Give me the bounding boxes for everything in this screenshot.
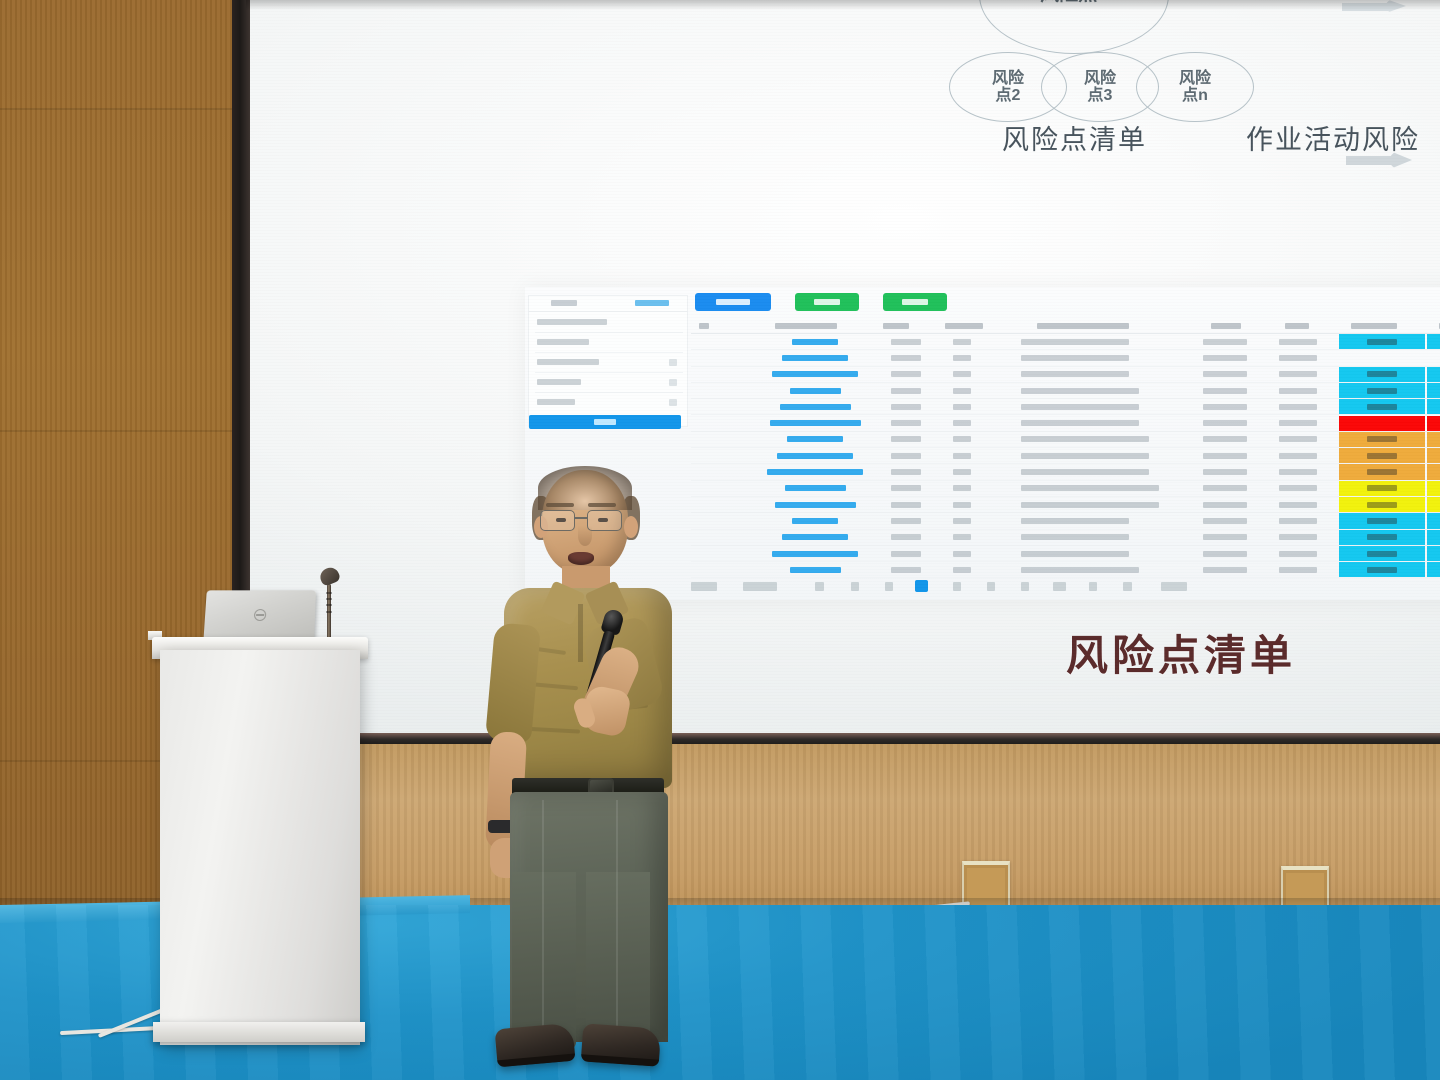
- filter-field-risk-level[interactable]: [535, 394, 683, 413]
- area-cell: [1203, 388, 1247, 394]
- pagination-page-6[interactable]: [1021, 582, 1029, 591]
- mouth: [568, 552, 594, 565]
- method-cell: [953, 371, 971, 377]
- risk-type-cell: [891, 502, 921, 508]
- method-cell: [953, 404, 971, 410]
- pagination-prev[interactable]: [815, 582, 824, 591]
- risk-type-cell: [891, 567, 921, 573]
- table-row[interactable]: [691, 367, 1440, 383]
- accident-type-cell: [1021, 469, 1149, 475]
- risk-point-name-link[interactable]: [772, 551, 858, 557]
- department-cell: [1279, 371, 1317, 377]
- filter-reset-link[interactable]: [635, 300, 669, 306]
- accident-type-cell: [1021, 518, 1129, 524]
- area-cell: [1203, 436, 1247, 442]
- pagination-page-current[interactable]: [915, 580, 928, 592]
- risk-type-cell: [891, 371, 921, 377]
- shirt-placket: [578, 604, 583, 662]
- filter-field-type[interactable]: [535, 334, 683, 353]
- current-risk-level-cell: [1427, 497, 1440, 512]
- pagination-jump[interactable]: [1161, 582, 1187, 591]
- table-row[interactable]: [691, 399, 1440, 415]
- initial-risk-level-cell: [1339, 530, 1425, 545]
- area-cell: [1203, 502, 1247, 508]
- pagination-page-4[interactable]: [953, 582, 961, 591]
- venn-circle-n-label: 风险 点n: [1179, 70, 1211, 105]
- table-pagination: [691, 579, 1391, 595]
- trouser-crease-right: [616, 800, 618, 1040]
- method-cell: [953, 420, 971, 426]
- department-cell: [1279, 518, 1317, 524]
- venn-circle-3-line2: 点3: [1088, 87, 1113, 104]
- area-cell: [1203, 453, 1247, 459]
- venn-circle-3-label: 风险 点3: [1084, 70, 1116, 105]
- risk-point-name-link[interactable]: [782, 355, 848, 361]
- microphone-head: [318, 565, 342, 587]
- department-cell: [1279, 502, 1317, 508]
- venn-circle-1-label: 风险点1: [1040, 0, 1108, 5]
- initial-risk-level-cell: [1339, 334, 1425, 349]
- accident-type-cell: [1021, 534, 1129, 540]
- method-cell: [953, 355, 971, 361]
- risk-type-cell: [891, 436, 921, 442]
- table-row[interactable]: [691, 448, 1440, 464]
- current-risk-level-cell: [1427, 562, 1440, 577]
- current-risk-level-cell: [1427, 399, 1440, 414]
- department-cell: [1279, 469, 1317, 475]
- left-leg: [512, 872, 576, 1050]
- venn-circle-n: 风险 点n: [1136, 52, 1254, 122]
- area-cell: [1203, 420, 1247, 426]
- projection-screen: 风险点1 风险 点2 风险 点3 风险 点n 风险点清: [246, 0, 1440, 735]
- initial-risk-level-cell: [1339, 432, 1425, 447]
- current-risk-level-cell: [1427, 367, 1440, 382]
- method-cell: [953, 388, 971, 394]
- method-cell: [953, 518, 971, 524]
- filter-panel: [528, 295, 688, 427]
- risk-type-cell: [891, 453, 921, 459]
- department-cell: [1279, 355, 1317, 361]
- filter-field-department[interactable]: [535, 374, 683, 393]
- current-risk-level-cell: [1427, 464, 1440, 479]
- current-risk-level-cell: [1427, 546, 1440, 561]
- left-shoe: [494, 1023, 575, 1068]
- pagination-ellipsis: [1053, 582, 1066, 591]
- accident-type-cell: [1021, 567, 1139, 573]
- nose: [578, 526, 592, 546]
- initial-risk-level-cell: [1339, 513, 1425, 528]
- venn-circle-1: 风险点1: [979, 0, 1169, 54]
- venn-circle-2-line1: 风险: [992, 70, 1024, 87]
- risk-type-cell: [891, 551, 921, 557]
- risk-type-cell: [891, 534, 921, 540]
- method-cell: [953, 485, 971, 491]
- eyebrow-right: [588, 503, 616, 507]
- table-row[interactable]: [691, 432, 1440, 448]
- risk-type-cell: [891, 518, 921, 524]
- area-cell: [1203, 404, 1247, 410]
- venn-circle-n-line1: 风险: [1179, 70, 1211, 87]
- risk-type-cell: [891, 339, 921, 345]
- accident-type-cell: [1021, 404, 1139, 410]
- accident-type-cell: [1021, 485, 1159, 491]
- initial-risk-level-cell: [1339, 383, 1425, 398]
- area-cell: [1203, 371, 1247, 377]
- pagination-page-1[interactable]: [851, 582, 859, 591]
- table-row[interactable]: [691, 383, 1440, 399]
- area-cell: [1203, 518, 1247, 524]
- current-risk-level-cell: [1427, 334, 1440, 349]
- risk-point-name-link[interactable]: [775, 502, 856, 508]
- department-cell: [1279, 453, 1317, 459]
- risk-point-name-link[interactable]: [772, 371, 858, 377]
- pagination-page-5[interactable]: [987, 582, 995, 591]
- risk-point-name-link[interactable]: [767, 469, 863, 475]
- current-risk-level-cell: [1427, 383, 1440, 398]
- accident-type-cell: [1021, 436, 1149, 442]
- export-button[interactable]: [883, 293, 947, 311]
- current-risk-level-cell: [1427, 481, 1440, 496]
- arrow-right-icon-top: [1342, 0, 1412, 12]
- risk-type-cell: [891, 485, 921, 491]
- risk-type-cell: [891, 404, 921, 410]
- accident-type-cell: [1021, 453, 1149, 459]
- conference-stage-photo: 风险点1 风险 点2 风险 点3 风险 点n 风险点清: [0, 0, 1440, 1080]
- risk-type-cell: [891, 355, 921, 361]
- laptop-lid: [203, 590, 316, 644]
- add-button[interactable]: [695, 293, 771, 311]
- department-cell: [1279, 388, 1317, 394]
- accident-type-cell: [1021, 355, 1129, 361]
- initial-risk-level-cell: [1339, 367, 1425, 382]
- department-cell: [1279, 339, 1317, 345]
- department-cell: [1279, 534, 1317, 540]
- gooseneck-microphone: [316, 566, 342, 646]
- lectern-base: [153, 1022, 365, 1042]
- filter-header-label: [551, 300, 577, 306]
- risk-point-name-link[interactable]: [780, 404, 851, 410]
- current-risk-level-cell: [1427, 432, 1440, 447]
- label-risk-point-list: 风险点清单: [1002, 118, 1147, 157]
- venn-circle-2-label: 风险 点2: [992, 70, 1024, 105]
- venn-diagram: 风险点1 风险 点2 风险 点3 风险 点n: [246, 0, 1440, 190]
- initial-risk-level-cell: [1339, 399, 1425, 414]
- method-cell: [953, 436, 971, 442]
- method-cell: [953, 469, 971, 475]
- department-cell: [1279, 551, 1317, 557]
- table-toolbar: [695, 293, 1025, 313]
- filter-search-button[interactable]: [529, 415, 681, 429]
- current-risk-level-cell: [1427, 513, 1440, 528]
- current-risk-level-cell: [1427, 416, 1440, 431]
- right-shoe: [581, 1023, 661, 1066]
- risk-point-name-link[interactable]: [777, 453, 853, 459]
- initial-risk-level-cell: [1339, 448, 1425, 463]
- department-cell: [1279, 485, 1317, 491]
- area-cell: [1203, 551, 1247, 557]
- risk-point-table: [691, 317, 1440, 579]
- accident-type-cell: [1021, 420, 1139, 426]
- accident-type-cell: [1021, 388, 1139, 394]
- pagination-page-last[interactable]: [1089, 582, 1097, 591]
- department-cell: [1279, 420, 1317, 426]
- department-cell: [1279, 436, 1317, 442]
- current-risk-level-cell: [1427, 448, 1440, 463]
- table-header-row: [691, 317, 1440, 334]
- risk-type-cell: [891, 469, 921, 475]
- risk-point-name-link[interactable]: [792, 339, 838, 345]
- risk-point-name-link[interactable]: [770, 420, 861, 426]
- table-row[interactable]: [691, 546, 1440, 562]
- risk-point-name-link[interactable]: [790, 388, 841, 394]
- initial-risk-level-cell: [1339, 497, 1425, 512]
- venn-circle-2-line2: 点2: [996, 87, 1021, 104]
- risk-type-cell: [891, 388, 921, 394]
- table-row[interactable]: [691, 481, 1440, 497]
- accident-type-cell: [1021, 339, 1129, 345]
- current-risk-level-cell: [1427, 530, 1440, 545]
- table-row[interactable]: [691, 562, 1440, 578]
- lectern: BOHAI: [160, 650, 360, 1045]
- table-row[interactable]: [691, 464, 1440, 480]
- method-cell: [953, 502, 971, 508]
- risk-point-name-link[interactable]: [790, 567, 841, 573]
- filter-field-area[interactable]: [535, 354, 683, 373]
- arrow-right-icon-middle: [1346, 152, 1414, 168]
- initial-risk-level-cell: [1339, 481, 1425, 496]
- table-row[interactable]: [691, 416, 1440, 432]
- pagination-page-2[interactable]: [885, 582, 893, 591]
- risk-point-name-link[interactable]: [782, 534, 848, 540]
- presenter: [480, 470, 710, 1080]
- venn-circle-3-line1: 风险: [1084, 70, 1116, 87]
- department-cell: [1279, 404, 1317, 410]
- eyebrow-left: [546, 503, 574, 507]
- method-cell: [953, 339, 971, 345]
- filter-panel-header: [529, 296, 687, 312]
- method-cell: [953, 534, 971, 540]
- pagination-page-size[interactable]: [743, 582, 777, 591]
- method-cell: [953, 453, 971, 459]
- risk-point-name-link[interactable]: [787, 436, 843, 442]
- import-button[interactable]: [795, 293, 859, 311]
- risk-point-name-link[interactable]: [792, 518, 838, 524]
- method-cell: [953, 551, 971, 557]
- table-row[interactable]: [691, 513, 1440, 529]
- table-row[interactable]: [691, 530, 1440, 546]
- initial-risk-level-cell: [1339, 562, 1425, 577]
- slide-title: 风险点清单: [1066, 622, 1296, 683]
- method-cell: [953, 567, 971, 573]
- initial-risk-level-cell: [1339, 546, 1425, 561]
- area-cell: [1203, 339, 1247, 345]
- initial-risk-level-cell: [1339, 464, 1425, 479]
- table-row[interactable]: [691, 350, 1440, 366]
- area-cell: [1203, 355, 1247, 361]
- table-row[interactable]: [691, 334, 1440, 350]
- accident-type-cell: [1021, 551, 1129, 557]
- venn-circle-n-line2: 点n: [1182, 87, 1208, 104]
- area-cell: [1203, 567, 1247, 573]
- risk-type-cell: [891, 420, 921, 426]
- accident-type-cell: [1021, 502, 1159, 508]
- area-cell: [1203, 485, 1247, 491]
- initial-risk-level-cell: [1339, 416, 1425, 431]
- risk-point-name-link[interactable]: [785, 485, 846, 491]
- trouser-crease-left: [542, 800, 544, 1040]
- department-cell: [1279, 567, 1317, 573]
- pagination-next[interactable]: [1123, 582, 1132, 591]
- table-row[interactable]: [691, 497, 1440, 513]
- dell-logo-icon: [254, 609, 267, 621]
- area-cell: [1203, 469, 1247, 475]
- accident-type-cell: [1021, 371, 1129, 377]
- filter-field-name[interactable]: [535, 314, 683, 333]
- area-cell: [1203, 534, 1247, 540]
